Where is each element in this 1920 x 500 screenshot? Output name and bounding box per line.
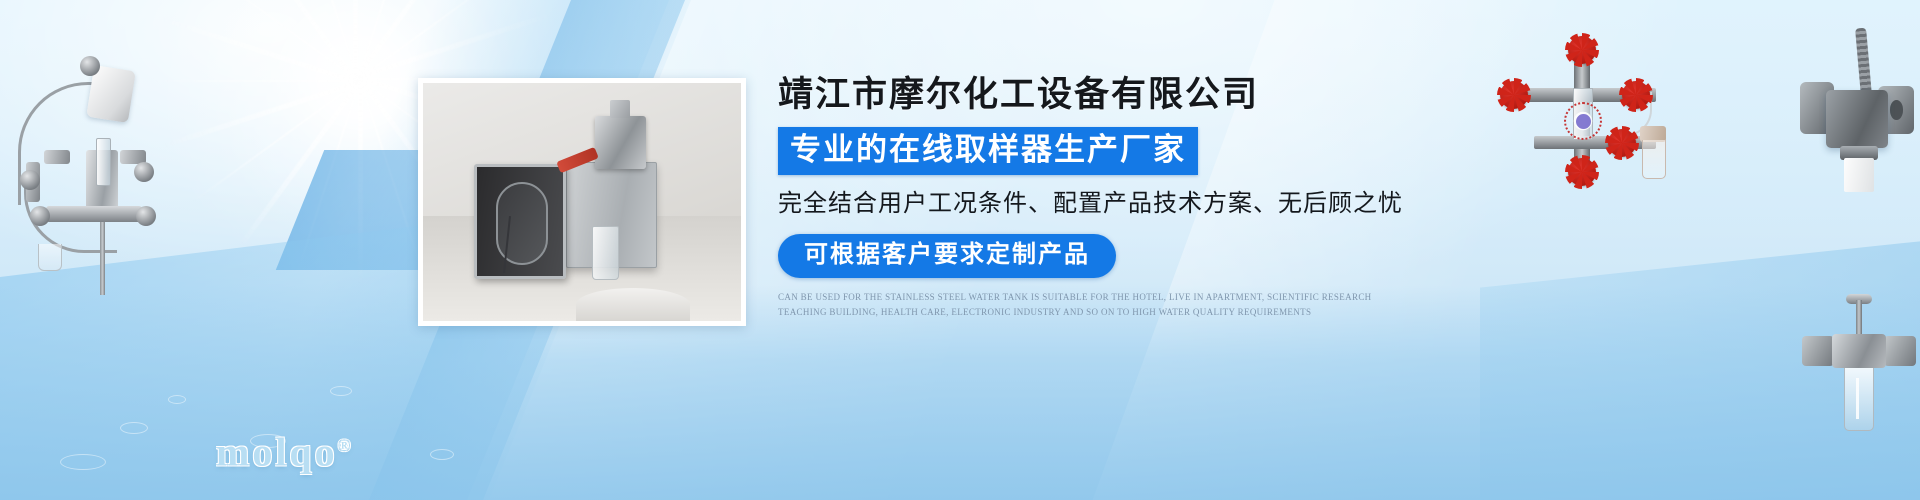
product-image-sampler-assembly [8, 30, 188, 295]
handwheel-icon [1608, 129, 1636, 157]
product-photo-card [418, 78, 746, 326]
banner-copy: 靖江市摩尔化工设备有限公司 专业的在线取样器生产厂家 完全结合用户工况条件、配置… [778, 74, 1398, 320]
product-image-small-valve [1800, 300, 1920, 460]
product-photo [423, 83, 741, 321]
certification-seal [1564, 102, 1602, 140]
handwheel-icon [1568, 36, 1596, 64]
company-name: 靖江市摩尔化工设备有限公司 [778, 74, 1398, 116]
registered-trademark-icon: ® [338, 436, 351, 455]
handwheel-icon [1568, 158, 1596, 186]
brand-watermark: molqo® [216, 429, 350, 476]
promo-banner: 靖江市摩尔化工设备有限公司 专业的在线取样器生产厂家 完全结合用户工况条件、配置… [0, 0, 1920, 500]
custom-order-pill: 可根据客户要求定制产品 [778, 234, 1116, 278]
headline-badge: 专业的在线取样器生产厂家 [778, 127, 1198, 175]
product-image-handle-valve [1800, 28, 1920, 208]
handwheel-icon [1500, 81, 1528, 109]
handwheel-icon [1622, 81, 1650, 109]
english-caption: CAN BE USED FOR THE STAINLESS STEEL WATE… [778, 290, 1378, 320]
lower-right-wedge [1480, 222, 1920, 500]
subheadline-text: 完全结合用户工况条件、配置产品技术方案、无后顾之忧 [778, 188, 1398, 220]
brand-watermark-text: molqo [216, 430, 338, 475]
product-image-cross-valve-manifold [1490, 40, 1680, 180]
